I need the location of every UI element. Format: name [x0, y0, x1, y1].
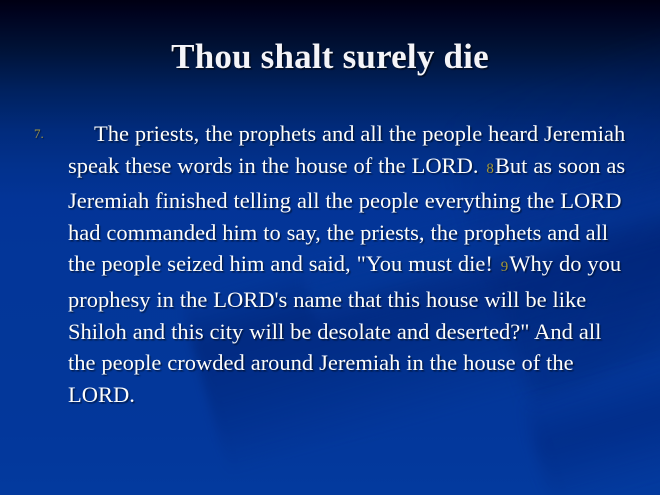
verse-number-8: 8	[484, 161, 495, 177]
slide-title: Thou shalt surely die	[0, 36, 660, 78]
bullet-number: 7.	[34, 118, 68, 150]
scripture-passage: The priests, the prophets and all the pe…	[68, 118, 626, 410]
presentation-slide: Thou shalt surely die 7. The priests, th…	[0, 0, 660, 495]
slide-body: 7. The priests, the prophets and all the…	[34, 118, 626, 410]
verse-number-9: 9	[499, 259, 510, 275]
